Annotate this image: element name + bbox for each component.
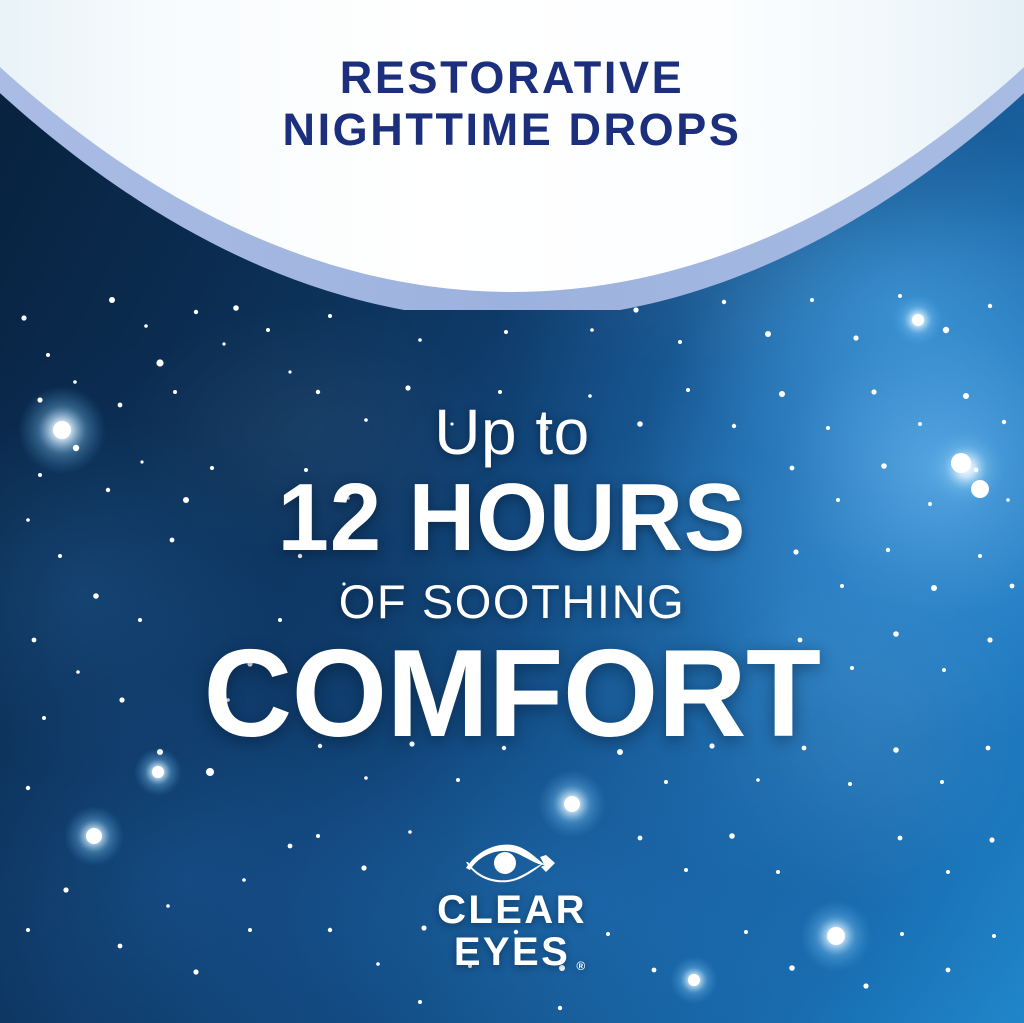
logo-line-eyes-text: EYES xyxy=(454,930,570,974)
claim-prefix: Up to xyxy=(0,400,1024,464)
registered-trademark-symbol: ® xyxy=(576,960,585,972)
header-headline: RESTORATIVE NIGHTTIME DROPS xyxy=(0,52,1024,156)
claim-duration: 12 HOURS xyxy=(20,470,1003,566)
claim-benefit: COMFORT xyxy=(5,629,1019,759)
main-claim-block: Up to 12 HOURS OF SOOTHING COMFORT xyxy=(0,400,1024,759)
header-line-1: RESTORATIVE xyxy=(0,52,1024,104)
logo-line-clear: CLEAR xyxy=(437,888,587,932)
header-line-2: NIGHTTIME DROPS xyxy=(0,104,1024,156)
claim-connector: OF SOOTHING xyxy=(0,578,1024,625)
product-ad-banner: RESTORATIVE NIGHTTIME DROPS Up to 12 HOU… xyxy=(0,0,1024,1023)
logo-wordmark: CLEAR EYES® xyxy=(0,890,1024,973)
brand-logo: CLEAR EYES® xyxy=(0,838,1024,973)
eye-swoosh-icon xyxy=(460,838,564,884)
logo-line-eyes: EYES® xyxy=(454,932,570,974)
